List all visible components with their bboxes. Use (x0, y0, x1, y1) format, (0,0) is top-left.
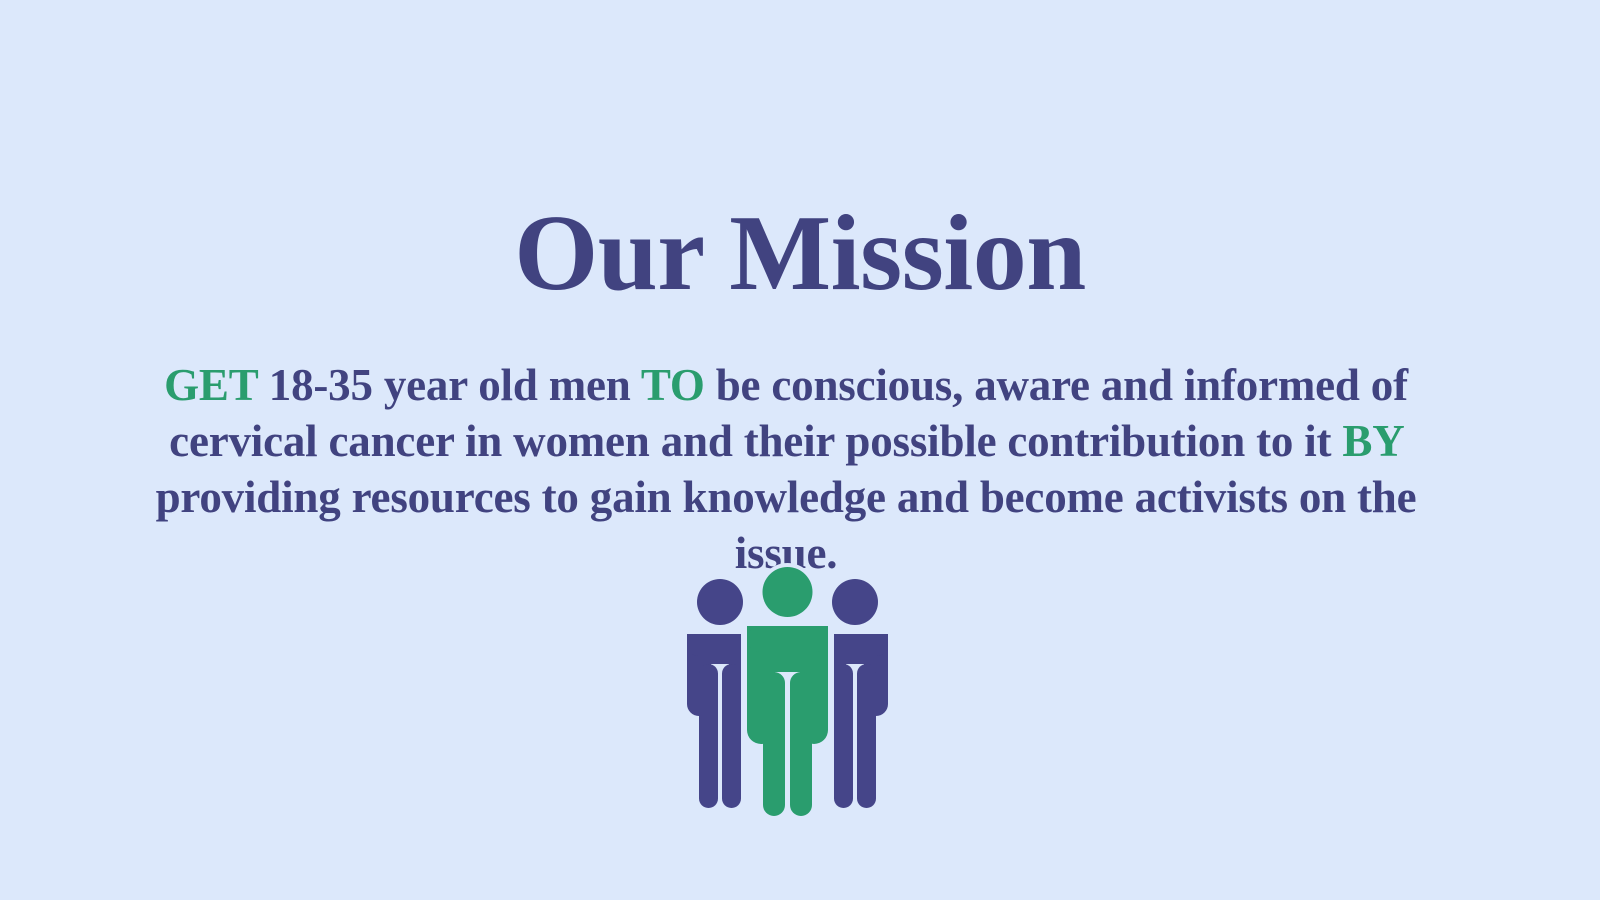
mission-text-audience: 18-35 year old men (269, 360, 631, 410)
person-center-icon (745, 563, 830, 820)
mission-keyword-get: GET (164, 360, 258, 410)
slide-canvas: Our Mission GET 18-35 year old men TO be… (0, 0, 1600, 900)
mission-keyword-by: BY (1342, 416, 1402, 466)
mission-statement: GET 18-35 year old men TO be conscious, … (155, 357, 1417, 581)
page-title: Our Mission (0, 200, 1600, 308)
three-people-group-icon (675, 558, 900, 828)
mission-keyword-to: TO (641, 360, 705, 410)
